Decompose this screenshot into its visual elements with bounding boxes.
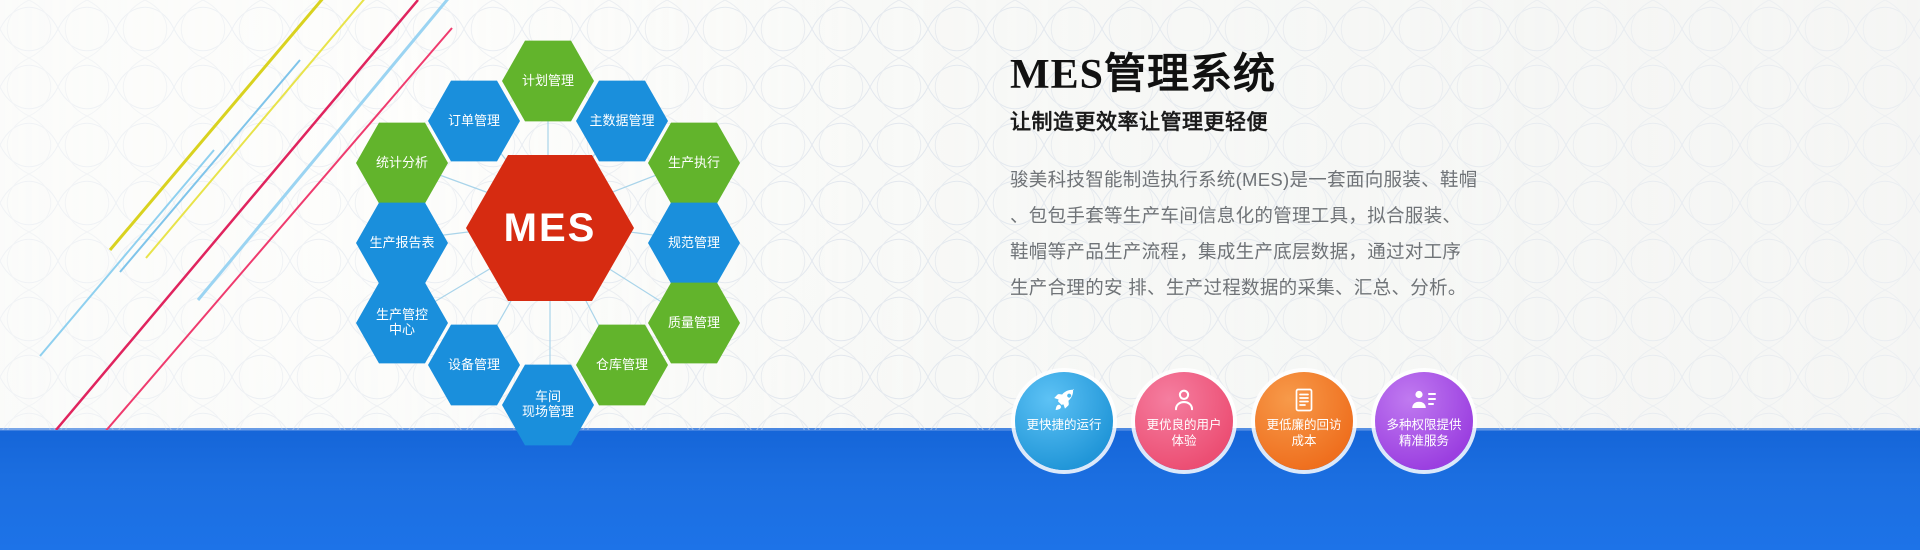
background-blue-band <box>0 428 1920 550</box>
description-line: 、包包手套等生产车间信息化的管理工具，拟合服装、 <box>1010 198 1570 234</box>
description-line: 鞋帽等产品生产流程，集成生产底层数据，通过对工序 <box>1010 234 1570 270</box>
banner-copy: MES管理系统 让制造更效率让管理更轻便 骏美科技智能制造执行系统(MES)是一… <box>1010 52 1610 306</box>
page-title: MES管理系统 <box>1010 52 1610 98</box>
background-top <box>0 0 1920 428</box>
hex-label: 质量管理 <box>668 316 720 331</box>
hex-label: 生产报告表 <box>369 236 434 251</box>
mes-hexagon-diagram: MES 计划管理 订单管理 主数据管理 统计分析 生产执行 生产报告表 规范管理… <box>300 10 820 430</box>
hex-label: 生产执行 <box>668 156 720 171</box>
badge-label: 更优良的用户体验 <box>1138 418 1229 449</box>
user-icon <box>1171 385 1197 415</box>
badge-label: 更低廉的回访成本 <box>1258 418 1349 449</box>
banner-stage: MES 计划管理 订单管理 主数据管理 统计分析 生产执行 生产报告表 规范管理… <box>0 0 1920 550</box>
page-subtitle: 让制造更效率让管理更轻便 <box>1010 106 1610 136</box>
hex-label: 仓库管理 <box>596 358 648 373</box>
rocket-icon <box>1051 385 1077 415</box>
hex-label: 主数据管理 <box>589 114 654 129</box>
hex-label: 设备管理 <box>448 358 500 373</box>
feature-badge-list: 更快捷的运行 更优良的用户体验 更低廉的回访成本 <box>1015 372 1473 470</box>
hex-label: 计划管理 <box>522 74 574 89</box>
document-icon <box>1292 385 1316 415</box>
feature-badge-multi-permission[interactable]: 多种权限提供精准服务 <box>1375 372 1473 470</box>
feature-badge-lower-followup-cost[interactable]: 更低廉的回访成本 <box>1255 372 1353 470</box>
permission-icon <box>1410 385 1438 415</box>
feature-badge-better-experience[interactable]: 更优良的用户体验 <box>1135 372 1233 470</box>
description-line: 生产合理的安 排、生产过程数据的采集、汇总、分析。 <box>1010 270 1570 306</box>
hex-label: 规范管理 <box>668 236 720 251</box>
hex-center-label: MES <box>504 205 597 251</box>
hex-label: 统计分析 <box>376 156 428 171</box>
feature-badge-faster-operation[interactable]: 更快捷的运行 <box>1015 372 1113 470</box>
description-paragraph: 骏美科技智能制造执行系统(MES)是一套面向服装、鞋帽 、包包手套等生产车间信息… <box>1010 162 1570 306</box>
badge-label: 更快捷的运行 <box>1018 418 1109 434</box>
hex-label: 订单管理 <box>448 114 500 129</box>
badge-label: 多种权限提供精准服务 <box>1378 418 1469 449</box>
description-line: 骏美科技智能制造执行系统(MES)是一套面向服装、鞋帽 <box>1010 162 1570 198</box>
hex-label: 车间现场管理 <box>522 390 574 420</box>
hex-label: 生产管控中心 <box>376 308 428 338</box>
